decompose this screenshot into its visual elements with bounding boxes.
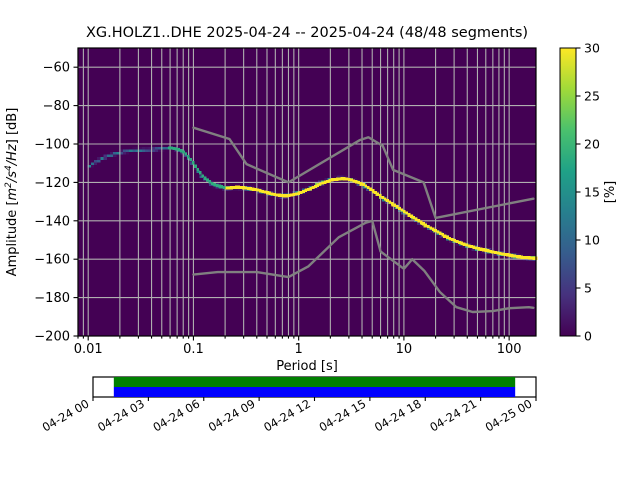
mode-bin [257,188,260,191]
colorbar-tick-label: 30 [584,41,600,56]
density-bin [129,149,132,152]
ylabel-hz: /Hz [5,143,20,166]
density-bin [299,188,302,191]
mode-bin [278,194,281,197]
mode-bin [237,186,240,189]
density-bin [123,149,126,152]
mode-bin [173,147,176,150]
mode-bin [391,202,394,205]
density-bin [113,155,116,158]
density-bin [91,162,94,165]
mode-bin [497,251,500,254]
mode-bin [245,186,248,189]
density-bin [155,147,158,150]
colorbar-gradient-bar [560,48,576,336]
density-bin [158,147,161,150]
mode-bin [252,188,255,191]
mode-bin [357,181,360,184]
mode-bin [300,191,303,194]
mode-bin [444,234,447,237]
mode-bin [187,155,190,158]
mode-bin [525,256,528,259]
y-tick-label: −80 [43,99,70,114]
mode-bin [528,256,531,259]
mode-bin [372,189,375,192]
mode-bin [297,192,300,195]
colorbar-tick-label: 20 [584,137,600,152]
plot-canvas: XG.HOLZ1..DHE 2025-04-24 -- 2025-04-24 (… [0,0,640,480]
x-tick-label: 1 [295,342,303,357]
mode-bin [516,255,519,258]
mode-bin [492,250,495,253]
mode-bin [465,243,468,246]
density-bin [158,149,161,152]
colorbar-tick-label: 0 [584,329,592,344]
mode-bin [309,187,312,190]
mode-bin [213,183,216,186]
mode-bin [288,194,291,197]
y-tick-label: −160 [34,253,70,268]
colorbar-tick-label: 5 [584,281,592,296]
colorbar-tick-label: 15 [584,185,600,200]
mode-bin [345,178,348,181]
mode-bin [367,186,370,189]
density-bin [132,149,135,152]
mode-bin [247,187,250,190]
mode-bin [441,233,444,236]
mode-bin [254,188,257,191]
mode-bin [480,248,483,251]
mode-bin [305,189,308,192]
x-tick-label: 0.01 [74,342,103,357]
mode-bin [312,186,315,189]
page-title: XG.HOLZ1..DHE 2025-04-24 -- 2025-04-24 (… [86,25,528,41]
mode-bin [429,226,432,229]
y-tick-label: −180 [34,291,70,306]
mode-bin [206,178,209,181]
density-bin [139,147,142,150]
mode-bin [333,178,336,181]
mode-bin [470,245,473,248]
mode-bin [281,194,284,197]
mode-bin [218,185,221,188]
density-bin [462,246,465,249]
density-bin [107,155,110,158]
mode-bin [201,175,204,178]
mode-bin [415,218,418,221]
mode-bin [314,185,317,188]
colorbar-tick-label: 25 [584,89,600,104]
mode-bin [324,181,327,184]
mode-bin [343,177,346,180]
data-coverage-green [114,377,515,387]
mode-bin [410,215,413,218]
mode-bin [422,222,425,225]
y-tick-label: −60 [43,61,70,76]
mode-bin [199,171,202,174]
density-bin [305,186,308,189]
density-bin [116,152,119,155]
density-bin [91,165,94,168]
mode-bin [393,204,396,207]
mode-bin [453,239,456,242]
mode-bin [405,212,408,215]
mode-bin [487,249,490,252]
mode-bin [362,183,365,186]
mode-bin [381,196,384,199]
mode-bin [302,190,305,193]
mode-bin [482,248,485,251]
mode-bin [321,181,324,184]
mode-bin [341,177,344,180]
mode-bin [259,189,262,192]
mode-bin [269,192,272,195]
density-bin [126,149,129,152]
mode-bin [384,197,387,200]
mode-bin [501,252,504,255]
mode-bin [377,192,380,195]
x-tick-label: 0.1 [183,342,204,357]
density-bin [97,157,100,160]
mode-bin [494,251,497,254]
mode-bin [204,177,207,180]
mode-bin [468,244,471,247]
density-bin [110,155,113,158]
mode-bin [290,193,293,196]
ylabel-prefix: Amplitude [ [5,200,20,276]
density-bin [132,147,135,150]
mode-bin [523,256,526,259]
mode-bin [398,207,401,210]
density-bin [123,152,126,155]
density-bin [334,175,337,178]
density-bin [155,149,158,152]
mode-bin [401,208,404,211]
mode-bin [225,187,228,190]
mode-bin [273,193,276,196]
mode-bin [461,242,464,245]
mode-bin [329,179,332,182]
density-bin [404,214,407,217]
density-bin [142,147,145,150]
density-bin [142,149,145,152]
mode-bin [408,213,411,216]
mode-bin [353,179,356,182]
mode-bin [348,178,351,181]
mode-bin [389,200,392,203]
mode-bin [350,178,353,181]
mode-bin [509,254,512,257]
x-tick-label: 100 [497,342,522,357]
colorbar-tick-label: 10 [584,233,600,248]
x-axis-label: Period [s] [276,359,338,374]
mode-bin [506,253,509,256]
mode-bin [242,186,245,189]
mode-bin [451,238,454,241]
mode-bin [266,191,269,194]
mode-bin [175,147,178,150]
mode-bin [216,184,219,187]
mode-bin [477,247,480,250]
mode-bin [417,219,420,222]
mode-bin [434,229,437,232]
density-bin [145,149,148,152]
mode-bin [386,199,389,202]
mode-bin [283,194,286,197]
mode-bin [223,186,226,189]
mode-bin [432,228,435,231]
mode-bin [437,230,440,233]
mode-bin [170,146,173,149]
mode-bin [307,188,310,191]
mode-bin [230,186,233,189]
mode-bin [194,165,197,168]
mode-bin [295,192,298,195]
mode-bin [189,158,192,161]
mode-bin [403,210,406,213]
mode-bin [271,192,274,195]
y-tick-label: −200 [34,330,70,345]
mode-bin [425,224,428,227]
mode-bin [317,184,320,187]
mode-bin [499,252,502,255]
mode-bin [326,180,329,183]
mode-bin [168,146,171,149]
mode-bin [355,180,358,183]
mode-bin [319,182,322,185]
mode-bin [185,153,188,156]
mode-bin [463,243,466,246]
density-bin [145,147,148,150]
x-tick-label: 10 [396,342,413,357]
y-tick-label: −120 [34,176,70,191]
mode-bin [369,188,372,191]
mode-bin [475,246,478,249]
mode-bin [511,254,514,257]
mode-bin [518,255,521,258]
mode-bin [489,250,492,253]
mode-bin [396,205,399,208]
mode-bin [221,185,224,188]
mode-bin [360,182,363,185]
mode-bin [331,178,334,181]
mode-bin [249,187,252,190]
mode-bin [513,254,516,257]
mode-bin [211,182,214,185]
colorbar-label: [%] [603,181,618,204]
mode-bin [446,236,449,239]
mode-bin [235,186,238,189]
mode-bin [192,161,195,164]
mode-bin [521,256,524,259]
mode-bin [504,253,507,256]
density-bin [104,155,107,158]
mode-bin [456,240,459,243]
mode-bin [180,149,183,152]
mode-bin [458,241,461,244]
mode-bin [439,232,442,235]
density-bin [126,152,129,155]
mode-bin [228,186,231,189]
mode-bin [338,177,341,180]
mode-bin [197,168,200,171]
svg-text:Amplitude [m2/s4/Hz] [dB]: Amplitude [m2/s4/Hz] [dB] [4,108,20,277]
mode-bin [530,256,533,259]
mode-bin [485,249,488,252]
density-bin [97,160,100,163]
mode-bin [374,191,377,194]
ylabel-suffix: ] [dB] [5,108,20,145]
mode-bin [533,257,536,260]
density-bin [94,160,97,163]
mode-bin [413,216,416,219]
mode-bin [420,221,423,224]
mode-bin [276,193,279,196]
ylabel-slash-s: /s [5,171,20,183]
data-coverage-blue [114,387,515,397]
density-bin [94,162,97,165]
mode-bin [209,180,212,183]
mode-bin [293,193,296,196]
mode-bin [427,225,430,228]
mode-bin [379,194,382,197]
density-bin [139,149,142,152]
mode-bin [233,186,236,189]
mode-bin [177,148,180,151]
mode-bin [261,190,264,193]
mode-bin [240,186,243,189]
mode-bin [473,246,476,249]
density-bin [110,152,113,155]
mode-bin [285,194,288,197]
mode-bin [365,184,368,187]
mode-bin [264,190,267,193]
y-axis-label: Amplitude [m2/s4/Hz] [dB] [4,108,20,277]
main-axes: 0.010.1110100−60−80−100−120−140−160−180−… [34,48,537,357]
mode-bin [449,237,452,240]
ylabel-m: m [5,188,20,201]
ppsd-figure: XG.HOLZ1..DHE 2025-04-24 -- 2025-04-24 (… [0,0,640,480]
mode-bin [336,178,339,181]
mode-bin [182,150,185,153]
density-bin [164,147,167,150]
density-bin [100,157,103,160]
y-tick-label: −140 [34,214,70,229]
density-bin [113,152,116,155]
y-tick-label: −100 [34,138,70,153]
density-bin [104,157,107,160]
